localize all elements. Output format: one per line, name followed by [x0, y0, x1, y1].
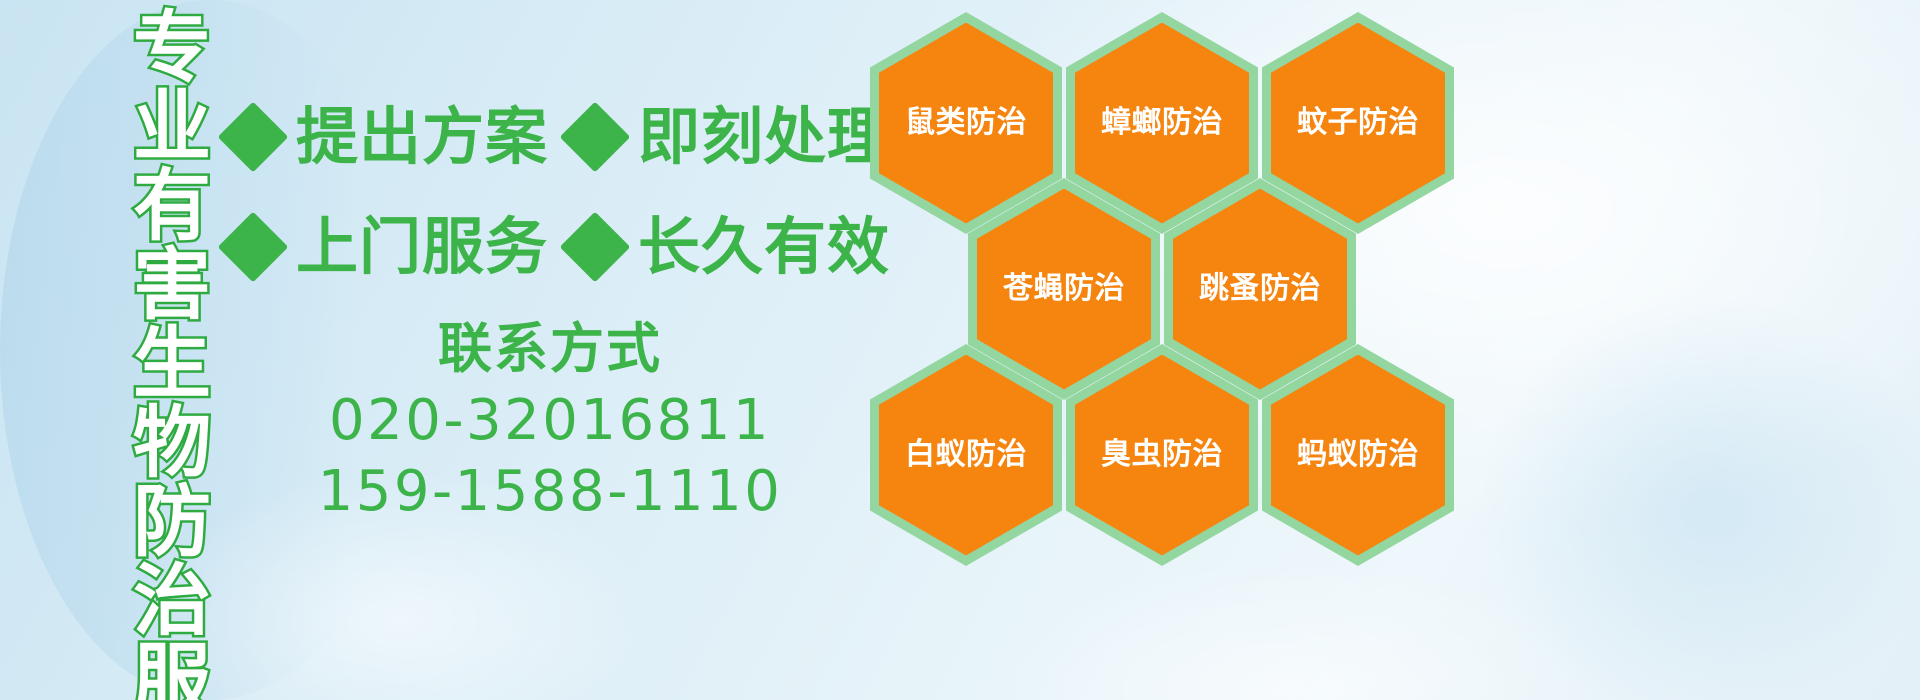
diamond-bullet-icon [560, 212, 631, 283]
feature-label: 上门服务 [296, 216, 548, 278]
diamond-bullet-icon [218, 212, 289, 283]
service-honeycomb: 鼠类防治 蟑螂防治 蚊子防治 苍蝇防治 跳蚤防治 白蚁防治 [862, 2, 1462, 562]
hex-inner: 臭虫防治 [1075, 355, 1249, 556]
feature-label: 长久有效 [638, 216, 890, 278]
hex-inner: 蚂蚁防治 [1271, 355, 1445, 556]
background-glow-bottom [980, 560, 1600, 700]
hex-inner: 蟑螂防治 [1075, 23, 1249, 224]
phone-number-landline[interactable]: 020-32016811 [300, 386, 800, 457]
contact-heading: 联系方式 [300, 318, 800, 380]
hex-label: 蟑螂防治 [1101, 108, 1223, 138]
feature-label: 提出方案 [296, 106, 548, 168]
contact-block: 联系方式 020-32016811 159-1588-1110 [300, 318, 800, 527]
hex-label: 鼠类防治 [905, 108, 1027, 138]
hex-inner: 跳蚤防治 [1173, 189, 1347, 390]
hex-inner: 白蚁防治 [879, 355, 1053, 556]
hex-inner: 鼠类防治 [879, 23, 1053, 224]
hex-inner: 苍蝇防治 [977, 189, 1151, 390]
vertical-title: 专业有害生物防治服务 [108, 6, 204, 700]
diamond-bullet-icon [218, 102, 289, 173]
feature-label: 即刻处理 [638, 106, 890, 168]
feature-row: 提出方案 即刻处理 [228, 82, 878, 192]
hex-label: 蚂蚁防治 [1297, 440, 1419, 470]
feature-row: 上门服务 长久有效 [228, 192, 878, 302]
feature-item-long-lasting: 长久有效 [570, 216, 890, 278]
hex-label: 白蚁防治 [905, 440, 1027, 470]
hex-label: 苍蝇防治 [1003, 274, 1125, 304]
hex-label: 蚊子防治 [1297, 108, 1419, 138]
hex-label: 跳蚤防治 [1199, 274, 1321, 304]
feature-item-propose-plan: 提出方案 [228, 106, 548, 168]
hex-inner: 蚊子防治 [1271, 23, 1445, 224]
feature-item-onsite-service: 上门服务 [228, 216, 548, 278]
feature-item-immediate-handling: 即刻处理 [570, 106, 890, 168]
background-gradient-right [1480, 300, 1920, 700]
hex-label: 臭虫防治 [1101, 440, 1223, 470]
diamond-bullet-icon [560, 102, 631, 173]
promo-banner: 专业有害生物防治服务 提出方案 即刻处理 上门服务 长久有效 联系方式 [0, 0, 1920, 700]
phone-number-mobile[interactable]: 159-1588-1110 [300, 457, 800, 528]
feature-list: 提出方案 即刻处理 上门服务 长久有效 [228, 82, 878, 302]
